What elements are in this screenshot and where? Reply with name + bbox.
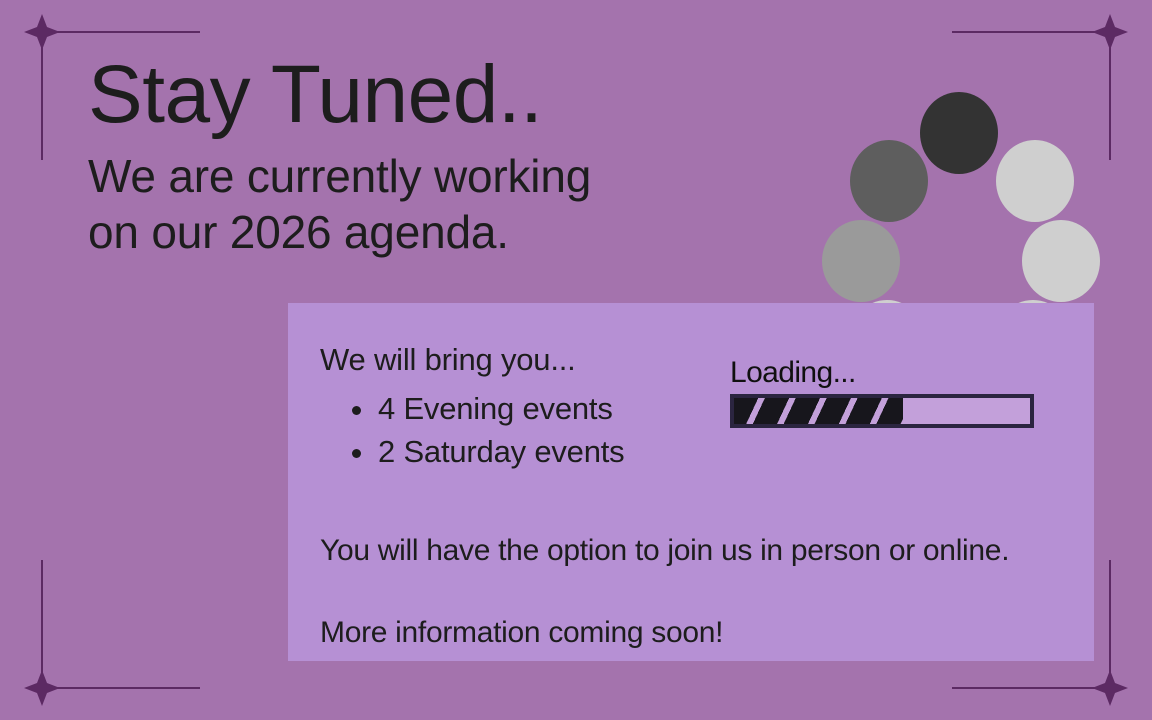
spinner-dot-8 (850, 140, 928, 222)
subtitle-line-1: We are currently working (88, 148, 591, 204)
spinner-dot-1 (920, 92, 998, 174)
sparkle-icon (24, 670, 60, 706)
page-subtitle: We are currently working on our 2026 age… (88, 148, 591, 260)
spinner-dot-7 (822, 220, 900, 302)
progress-bar-fill (734, 398, 903, 424)
loading-label: Loading... (730, 358, 1034, 388)
list-item: 2 Saturday events (350, 431, 1070, 474)
panel-paragraph-1: You will have the option to join us in p… (320, 531, 1009, 570)
page-title: Stay Tuned.. (88, 56, 591, 134)
sparkle-icon (24, 14, 60, 50)
slide-canvas: Stay Tuned.. We are currently working on… (0, 0, 1152, 720)
panel-paragraph-2: More information coming soon! (320, 613, 723, 652)
sparkle-icon (1092, 670, 1128, 706)
sparkle-icon (1092, 14, 1128, 50)
corner-bottom-left (24, 556, 204, 706)
loading-widget: Loading... (730, 358, 1034, 428)
progress-bar-track (730, 394, 1034, 428)
content-panel: We will bring you... 4 Evening events2 S… (288, 303, 1094, 661)
spinner-dot-3 (1022, 220, 1100, 302)
spinner-dot-2 (996, 140, 1074, 222)
subtitle-line-2: on our 2026 agenda. (88, 204, 591, 260)
headline-block: Stay Tuned.. We are currently working on… (88, 56, 591, 260)
